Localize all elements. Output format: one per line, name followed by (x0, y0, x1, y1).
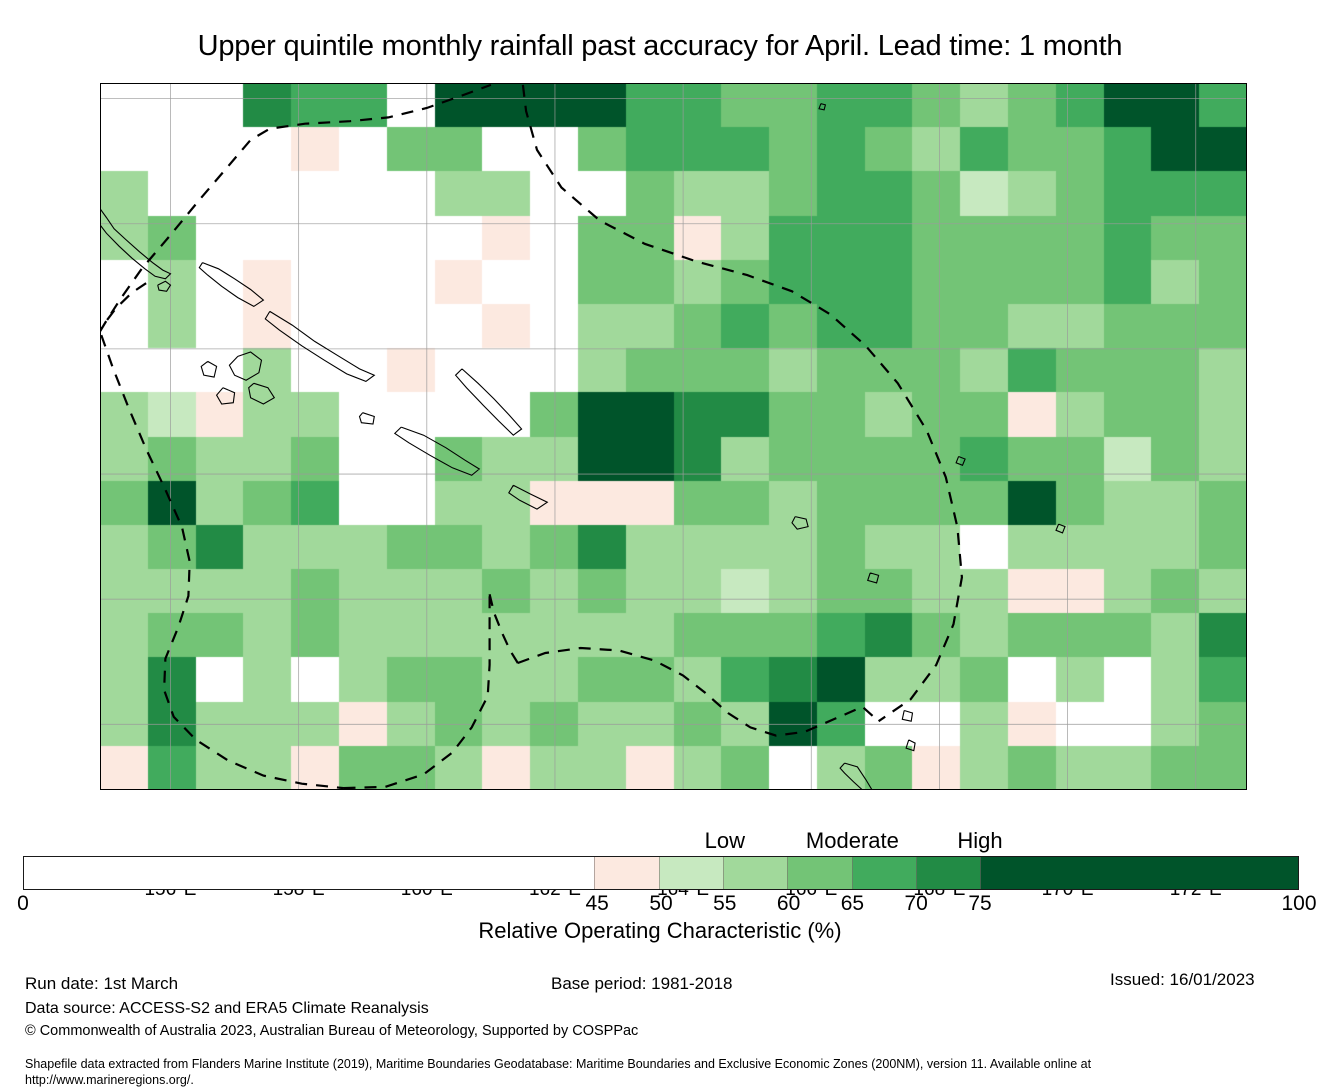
colorbar-category-label: Low (705, 828, 745, 854)
footer: Run date: 1st March Base period: 1981-20… (0, 968, 1320, 1080)
colorbar-gradient (23, 856, 1299, 890)
colorbar-tick-label: 45 (586, 892, 609, 916)
colorbar-segment (787, 857, 851, 889)
colorbar-tick-label: 70 (905, 892, 928, 916)
footer-run-date: Run date: 1st March (25, 974, 178, 994)
colorbar-tick-label: 65 (841, 892, 864, 916)
colorbar-tick-label: 50 (649, 892, 672, 916)
map-frame-border (100, 83, 1247, 790)
footer-shapefile-line2: http://www.marineregions.org/. (25, 1073, 194, 1087)
colorbar-segment (659, 857, 723, 889)
colorbar-axis-label: Relative Operating Characteristic (%) (0, 918, 1320, 944)
colorbar-tick-label: 100 (1281, 892, 1316, 916)
colorbar-tick-label: 60 (777, 892, 800, 916)
colorbar-segment (916, 857, 980, 889)
footer-base-period: Base period: 1981-2018 (551, 974, 732, 994)
colorbar-tick-label: 75 (968, 892, 991, 916)
colorbar-segment (980, 857, 1298, 889)
colorbar-segment (723, 857, 787, 889)
colorbar-category-label: Moderate (806, 828, 899, 854)
colorbar-category-label: High (957, 828, 1002, 854)
colorbar-segment (852, 857, 916, 889)
colorbar-segment (24, 857, 594, 889)
footer-copyright: © Commonwealth of Australia 2023, Austra… (25, 1023, 638, 1039)
map-panel: 156°E158°E160°E162°E164°E166°E168°E170°E… (100, 83, 1247, 790)
footer-data-source: Data source: ACCESS-S2 and ERA5 Climate … (25, 1000, 429, 1018)
footer-shapefile-line1: Shapefile data extracted from Flanders M… (25, 1057, 1091, 1071)
colorbar-tick-label: 0 (17, 892, 29, 916)
colorbar-segment (594, 857, 658, 889)
colorbar-panel: Relative Operating Characteristic (%) 04… (0, 828, 1320, 938)
page-title: Upper quintile monthly rainfall past acc… (0, 30, 1320, 63)
colorbar-tick-label: 55 (713, 892, 736, 916)
footer-issued-date: Issued: 16/01/2023 (1110, 970, 1255, 990)
